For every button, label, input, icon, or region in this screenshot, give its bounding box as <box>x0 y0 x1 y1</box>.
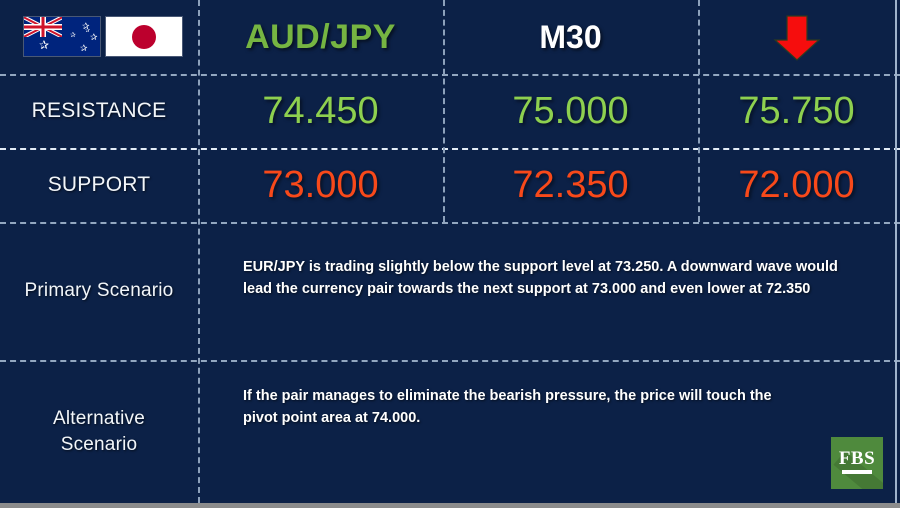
card-bottom-strip <box>0 503 900 508</box>
alternative-scenario-text: If the pair manages to eliminate the bea… <box>243 386 803 430</box>
alternative-scenario-label-line2: Scenario <box>61 432 138 458</box>
japan-flag-icon <box>106 17 182 56</box>
timeframe-title: M30 <box>443 0 698 74</box>
fbs-logo-text: FBS <box>831 448 883 470</box>
resistance-value-1: 74.450 <box>198 74 443 148</box>
support-value-1: 73.000 <box>198 148 443 222</box>
card-right-edge <box>895 0 897 503</box>
fbs-logo-underline <box>842 470 872 474</box>
currency-flags: ✰ ✰ ✰ ✰ ✰ ✰ <box>24 17 182 56</box>
row-label-resistance: RESISTANCE <box>0 74 198 148</box>
alternative-scenario-label-line1: Alternative <box>53 406 145 432</box>
row-label-primary-scenario: Primary Scenario <box>0 222 198 360</box>
fbs-logo: FBS <box>831 437 883 489</box>
row-label-support: SUPPORT <box>0 148 198 222</box>
support-value-2: 72.350 <box>443 148 698 222</box>
currency-pair-title: AUD/JPY <box>198 0 443 74</box>
support-value-3: 72.000 <box>698 148 895 222</box>
australia-flag-icon: ✰ ✰ ✰ ✰ ✰ ✰ <box>24 17 100 56</box>
primary-scenario-text: EUR/JPY is trading slightly below the su… <box>243 257 848 301</box>
forex-signal-card: ✰ ✰ ✰ ✰ ✰ ✰ AUD/JPY M30 RESISTANCE 74.45… <box>0 0 900 508</box>
trend-arrow-down-icon <box>698 0 895 74</box>
row-label-alternative-scenario: Alternative Scenario <box>0 360 198 503</box>
union-jack-canton <box>24 17 62 37</box>
resistance-value-3: 75.750 <box>698 74 895 148</box>
resistance-value-2: 75.000 <box>443 74 698 148</box>
